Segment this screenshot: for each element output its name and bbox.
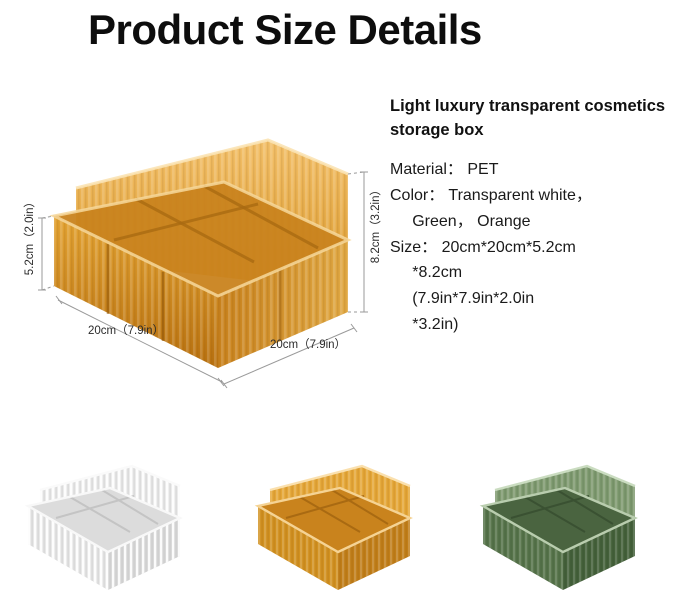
info-size-4: *3.2in) xyxy=(390,312,679,338)
product-size-details-page: Product Size Details xyxy=(0,0,679,614)
color-variants-row xyxy=(0,440,679,614)
variant-transparent-white xyxy=(10,448,210,608)
info-size-2: *8.2cm xyxy=(390,260,679,286)
hero-product-illustration: 5.2cm（2.0in） 8.2cm（3.2in） 20cm（7.9in） 20… xyxy=(18,100,378,370)
info-material: Material： PET xyxy=(390,157,679,183)
variant-green xyxy=(465,448,665,608)
hero-box-svg xyxy=(18,100,378,370)
info-color-1: Color： Transparent white， xyxy=(390,183,679,209)
info-size-1: Size： 20cm*20cm*5.2cm xyxy=(390,235,679,261)
product-name: Light luxury transparent cosmetics stora… xyxy=(390,95,679,143)
green-box-svg xyxy=(465,448,665,608)
dimension-left-height: 5.2cm（2.0in） xyxy=(24,196,38,275)
orange-box-svg xyxy=(240,448,440,608)
dimension-front-width: 20cm（7.9in） xyxy=(88,322,164,338)
dimension-side-depth: 20cm（7.9in） xyxy=(270,336,346,352)
product-info-block: Light luxury transparent cosmetics stora… xyxy=(390,95,679,338)
info-size-3: (7.9in*7.9in*2.0in xyxy=(390,286,679,312)
page-title: Product Size Details xyxy=(88,6,482,54)
info-color-2: Green， Orange xyxy=(390,209,679,235)
transparent-white-box-svg xyxy=(10,448,210,608)
dimension-right-height: 8.2cm（3.2in） xyxy=(370,184,386,263)
variant-orange xyxy=(240,448,440,608)
